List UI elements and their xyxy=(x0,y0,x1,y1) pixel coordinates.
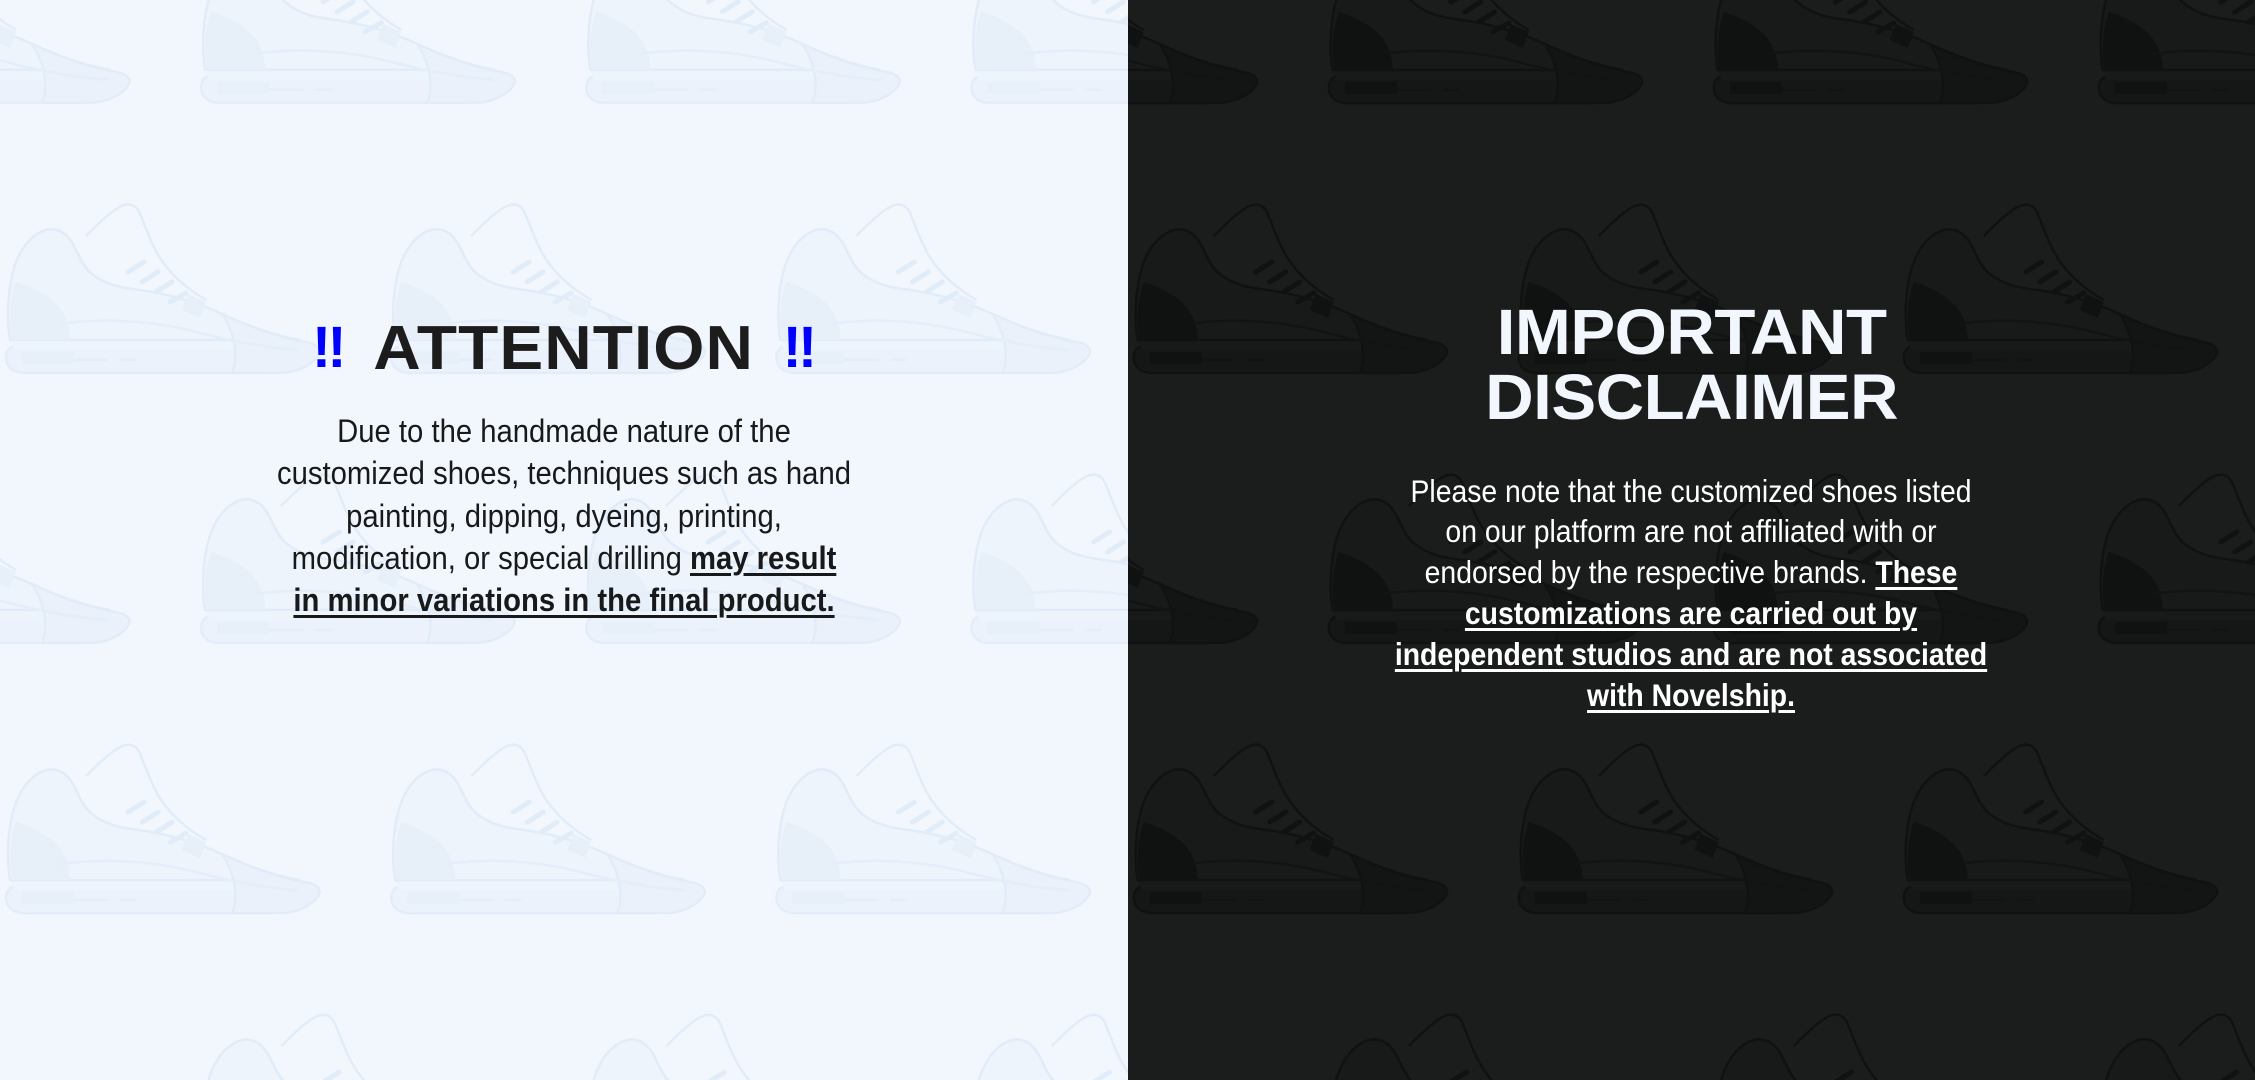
disclaimer-body: Please note that the customized shoes li… xyxy=(1394,471,1988,717)
double-exclamation-icon-right: ‼ xyxy=(783,319,815,377)
attention-panel: ‼ ATTENTION ‼ Due to the handmade nature… xyxy=(0,0,1128,1080)
disclaimer-panel: IMPORTANT DISCLAIMER Please note that th… xyxy=(1128,0,2255,1080)
disclaimer-heading-line-2: DISCLAIMER xyxy=(1485,365,1898,430)
disclaimer-banner: ‼ ATTENTION ‼ Due to the handmade nature… xyxy=(0,0,2255,1080)
attention-heading: ‼ ATTENTION ‼ xyxy=(311,318,817,380)
attention-body: Due to the handmade nature of the custom… xyxy=(276,410,852,621)
double-exclamation-icon-left: ‼ xyxy=(312,319,344,377)
disclaimer-heading-line-1: IMPORTANT xyxy=(1485,300,1898,365)
attention-heading-word: ATTENTION xyxy=(373,318,754,380)
disclaimer-heading: IMPORTANT DISCLAIMER xyxy=(1485,300,1898,431)
attention-content: ‼ ATTENTION ‼ Due to the handmade nature… xyxy=(0,0,1128,1080)
disclaimer-content: IMPORTANT DISCLAIMER Please note that th… xyxy=(1128,0,2255,1080)
